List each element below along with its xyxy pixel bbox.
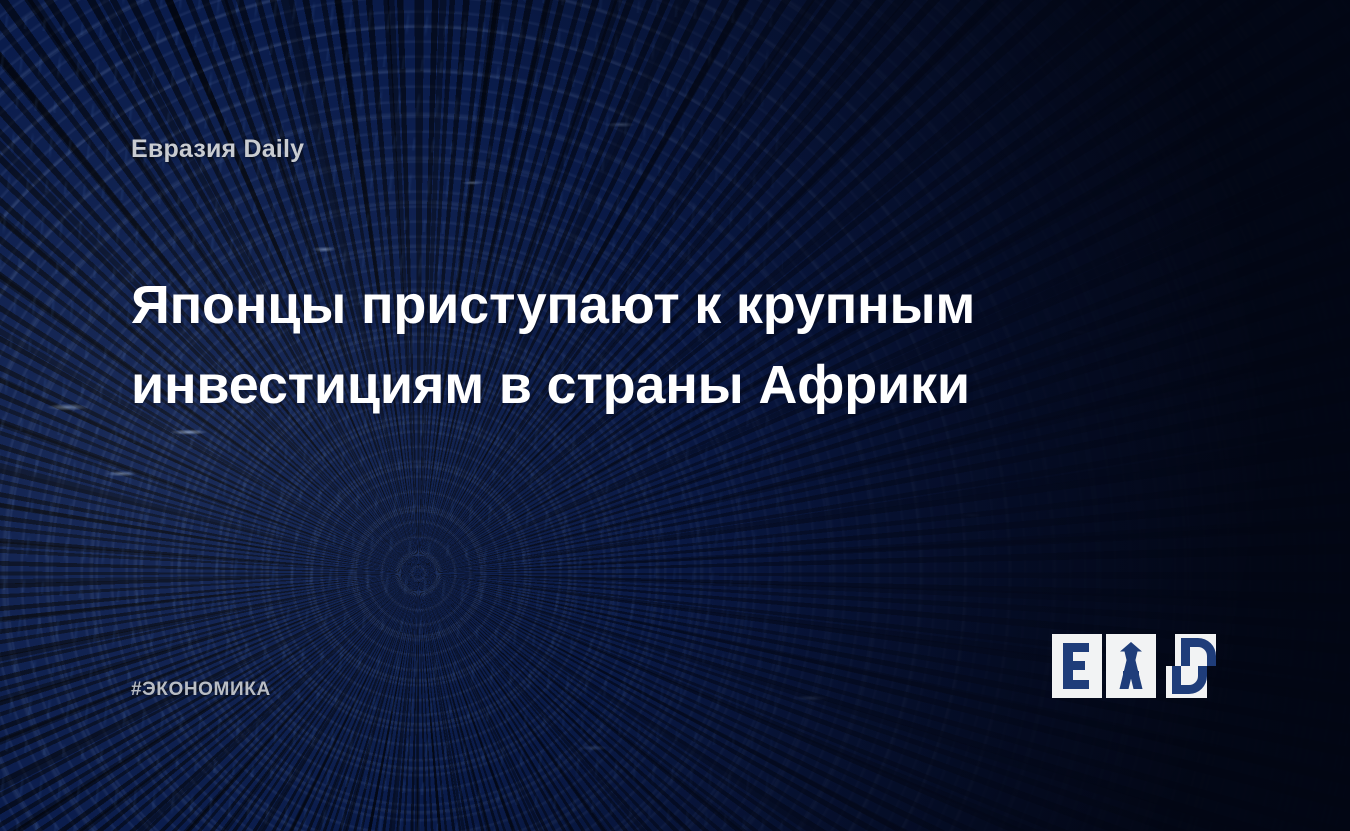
news-card: Евразия Daily Японцы приступают к крупны… (0, 0, 1350, 831)
brand-name: Евразия Daily (131, 135, 304, 164)
ead-logo (1046, 616, 1232, 716)
headline: Японцы приступают к крупным инвестициям … (131, 265, 1031, 425)
category-hashtag: #ЭКОНОМИКА (131, 679, 271, 701)
